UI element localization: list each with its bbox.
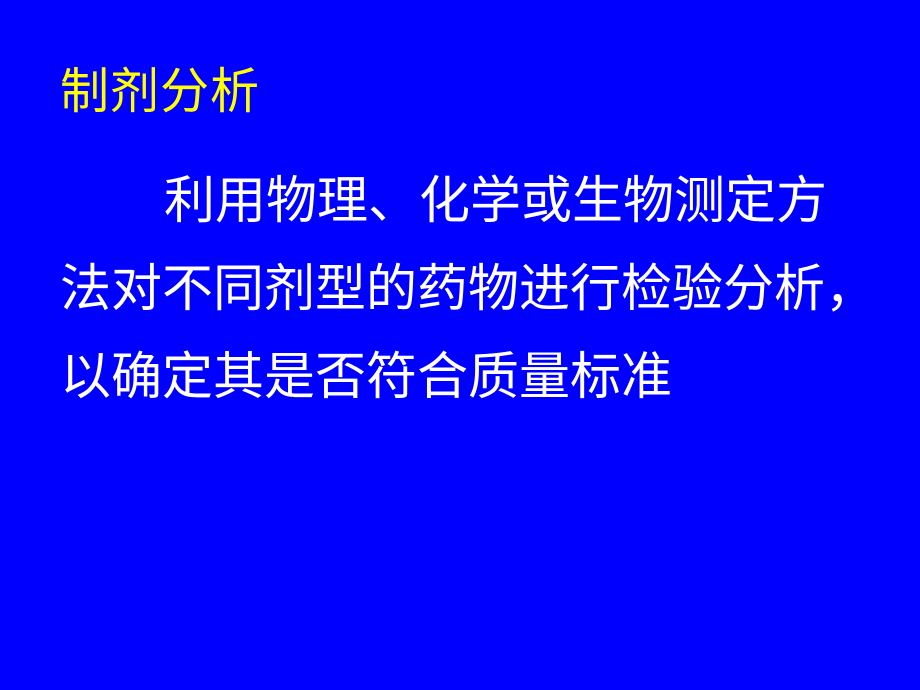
slide-body-text: 利用物理、化学或生物测定方 法对不同剂型的药物进行检验分析， 以确定其是否符合质… [60,158,890,422]
body-line-3: 以确定其是否符合质量标准 [60,334,890,422]
body-line-2: 法对不同剂型的药物进行检验分析， [60,246,890,334]
presentation-slide: 制剂分析 利用物理、化学或生物测定方 法对不同剂型的药物进行检验分析， 以确定其… [0,0,920,690]
body-line-1: 利用物理、化学或生物测定方 [60,158,890,246]
page-title: 制剂分析 [60,62,860,122]
